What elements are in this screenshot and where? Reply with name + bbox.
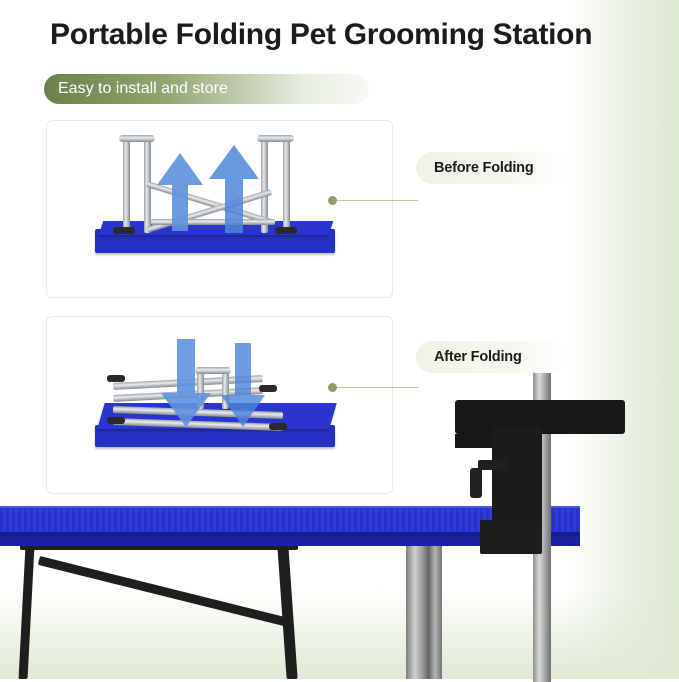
foot-a-after	[107, 375, 125, 382]
callout-before-label: Before Folding	[416, 160, 534, 176]
leg-right-top-bar-before	[257, 135, 294, 142]
callout-after-label: After Folding	[416, 349, 522, 365]
leader-line-1	[328, 200, 418, 201]
callout-before-folding: Before Folding	[416, 152, 568, 184]
foot-b-after	[107, 417, 125, 424]
clamp-knob	[470, 468, 482, 498]
after-folding-photo	[46, 316, 393, 494]
background-green-right	[569, 0, 679, 679]
arrow-up-left-icon	[155, 151, 205, 233]
clamp-block	[492, 426, 542, 526]
leg-right-inner-before	[283, 137, 290, 233]
table-center-post-secondary	[428, 546, 442, 679]
arrow-up-right-icon	[207, 143, 261, 235]
before-folding-photo	[46, 120, 393, 298]
leg-left-outer-before	[123, 137, 130, 233]
arrow-down-right-icon	[219, 341, 267, 429]
leader-line-2	[328, 387, 418, 388]
bullet-dot-icon	[328, 196, 337, 205]
foot-right-before	[275, 227, 297, 234]
leg-left-top-bar-before	[119, 135, 155, 142]
table-center-post	[406, 546, 428, 679]
foot-d-after	[269, 423, 287, 430]
foot-left-before	[113, 227, 135, 234]
clamp-screw	[478, 460, 508, 470]
clamp-base-plate	[480, 520, 542, 554]
bullet-dot-icon	[328, 383, 337, 392]
background-green-bottom	[0, 589, 679, 679]
subtitle-text: Easy to install and store	[58, 80, 228, 98]
callout-after-folding: After Folding	[416, 341, 568, 373]
page-title: Portable Folding Pet Grooming Station	[50, 18, 650, 52]
arrow-down-left-icon	[159, 337, 213, 429]
